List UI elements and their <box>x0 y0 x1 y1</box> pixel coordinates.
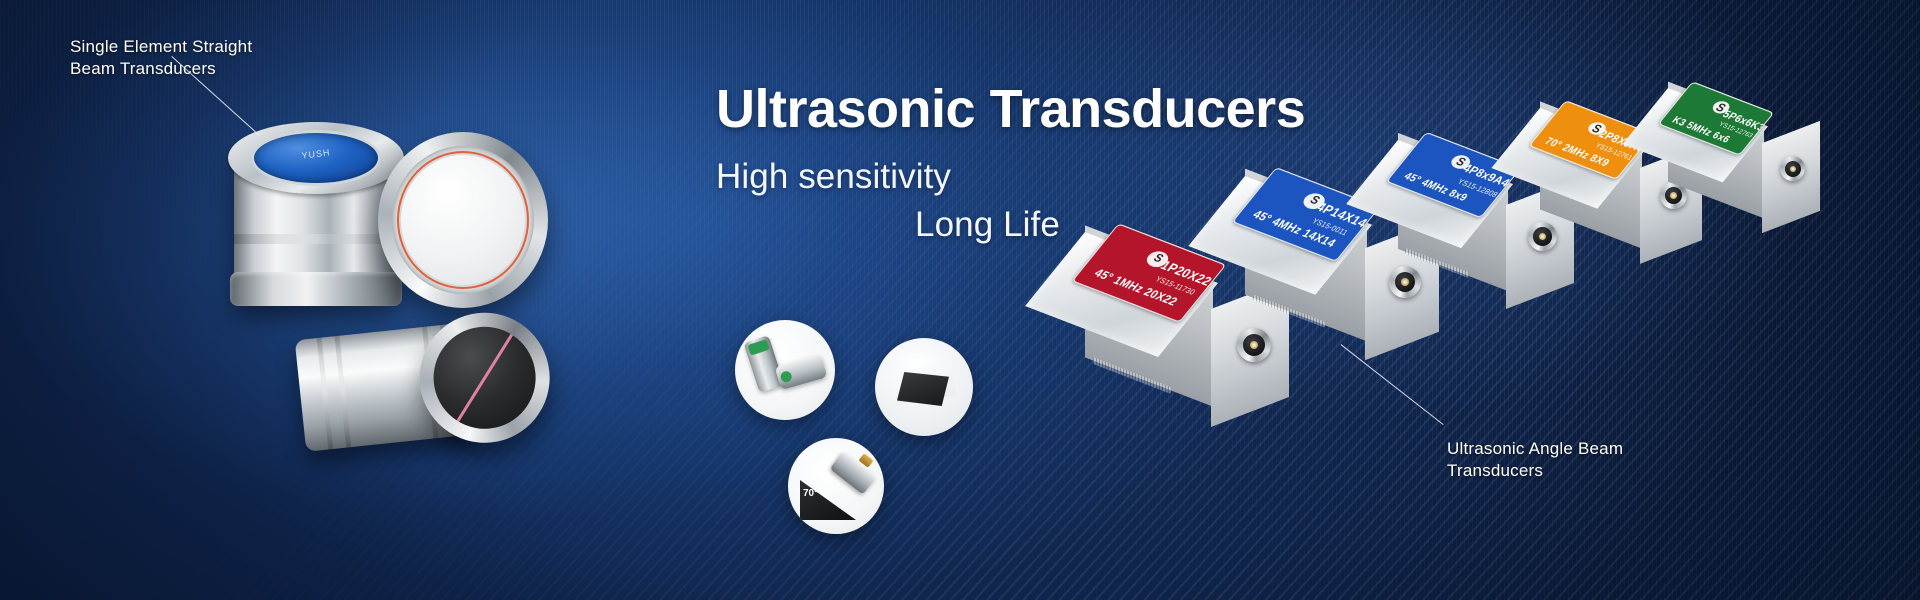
transducer-blue-face: YUSH <box>254 133 378 183</box>
disc-wear-plate <box>401 155 525 285</box>
wedge-angle-label: 70° <box>803 488 818 499</box>
banner-subtitle-1: High sensitivity <box>716 157 951 197</box>
wedge-connector <box>1780 156 1805 181</box>
banner-subtitle-2: Long Life <box>915 205 1060 245</box>
black-probe-block <box>897 372 949 406</box>
straight-beam-disc-transducer <box>378 132 548 308</box>
dual-element-transducer <box>294 308 538 462</box>
caption-straight-beam: Single Element Straight Beam Transducers <box>70 36 252 80</box>
transducer-face-label: YUSH <box>266 143 366 165</box>
caption-right-line-2: Transducers <box>1447 460 1623 482</box>
caption-left-line-2: Beam Transducers <box>70 58 252 80</box>
caption-left-line-1: Single Element Straight <box>70 36 252 58</box>
transducer-band <box>234 234 398 244</box>
connector-pin <box>1790 166 1796 172</box>
angle-beam-wedge: 5P6x6K3 YS15-12763 K3 5MHz 6x6 <box>1668 88 1844 240</box>
angle-wedge-body <box>800 480 856 520</box>
thumbnail-black-block-probe <box>875 338 973 436</box>
miniature-probe-lying <box>775 354 828 390</box>
thumbnail-miniature-probe-pair <box>735 320 835 420</box>
caption-angle-beam: Ultrasonic Angle Beam Transducers <box>1447 438 1623 482</box>
banner-headline: Ultrasonic Transducers <box>716 78 1305 140</box>
ultrasonic-transducers-banner: YUSH 70° <box>0 0 1920 600</box>
dual-element-separator <box>450 323 520 432</box>
thumbnail-angle-wedge-probe: 70° <box>788 438 884 534</box>
caption-right-line-1: Ultrasonic Angle Beam <box>1447 438 1623 460</box>
dual-element-face <box>429 322 541 434</box>
transducer-base-band <box>230 272 402 306</box>
miniature-probe-upright <box>744 335 785 392</box>
